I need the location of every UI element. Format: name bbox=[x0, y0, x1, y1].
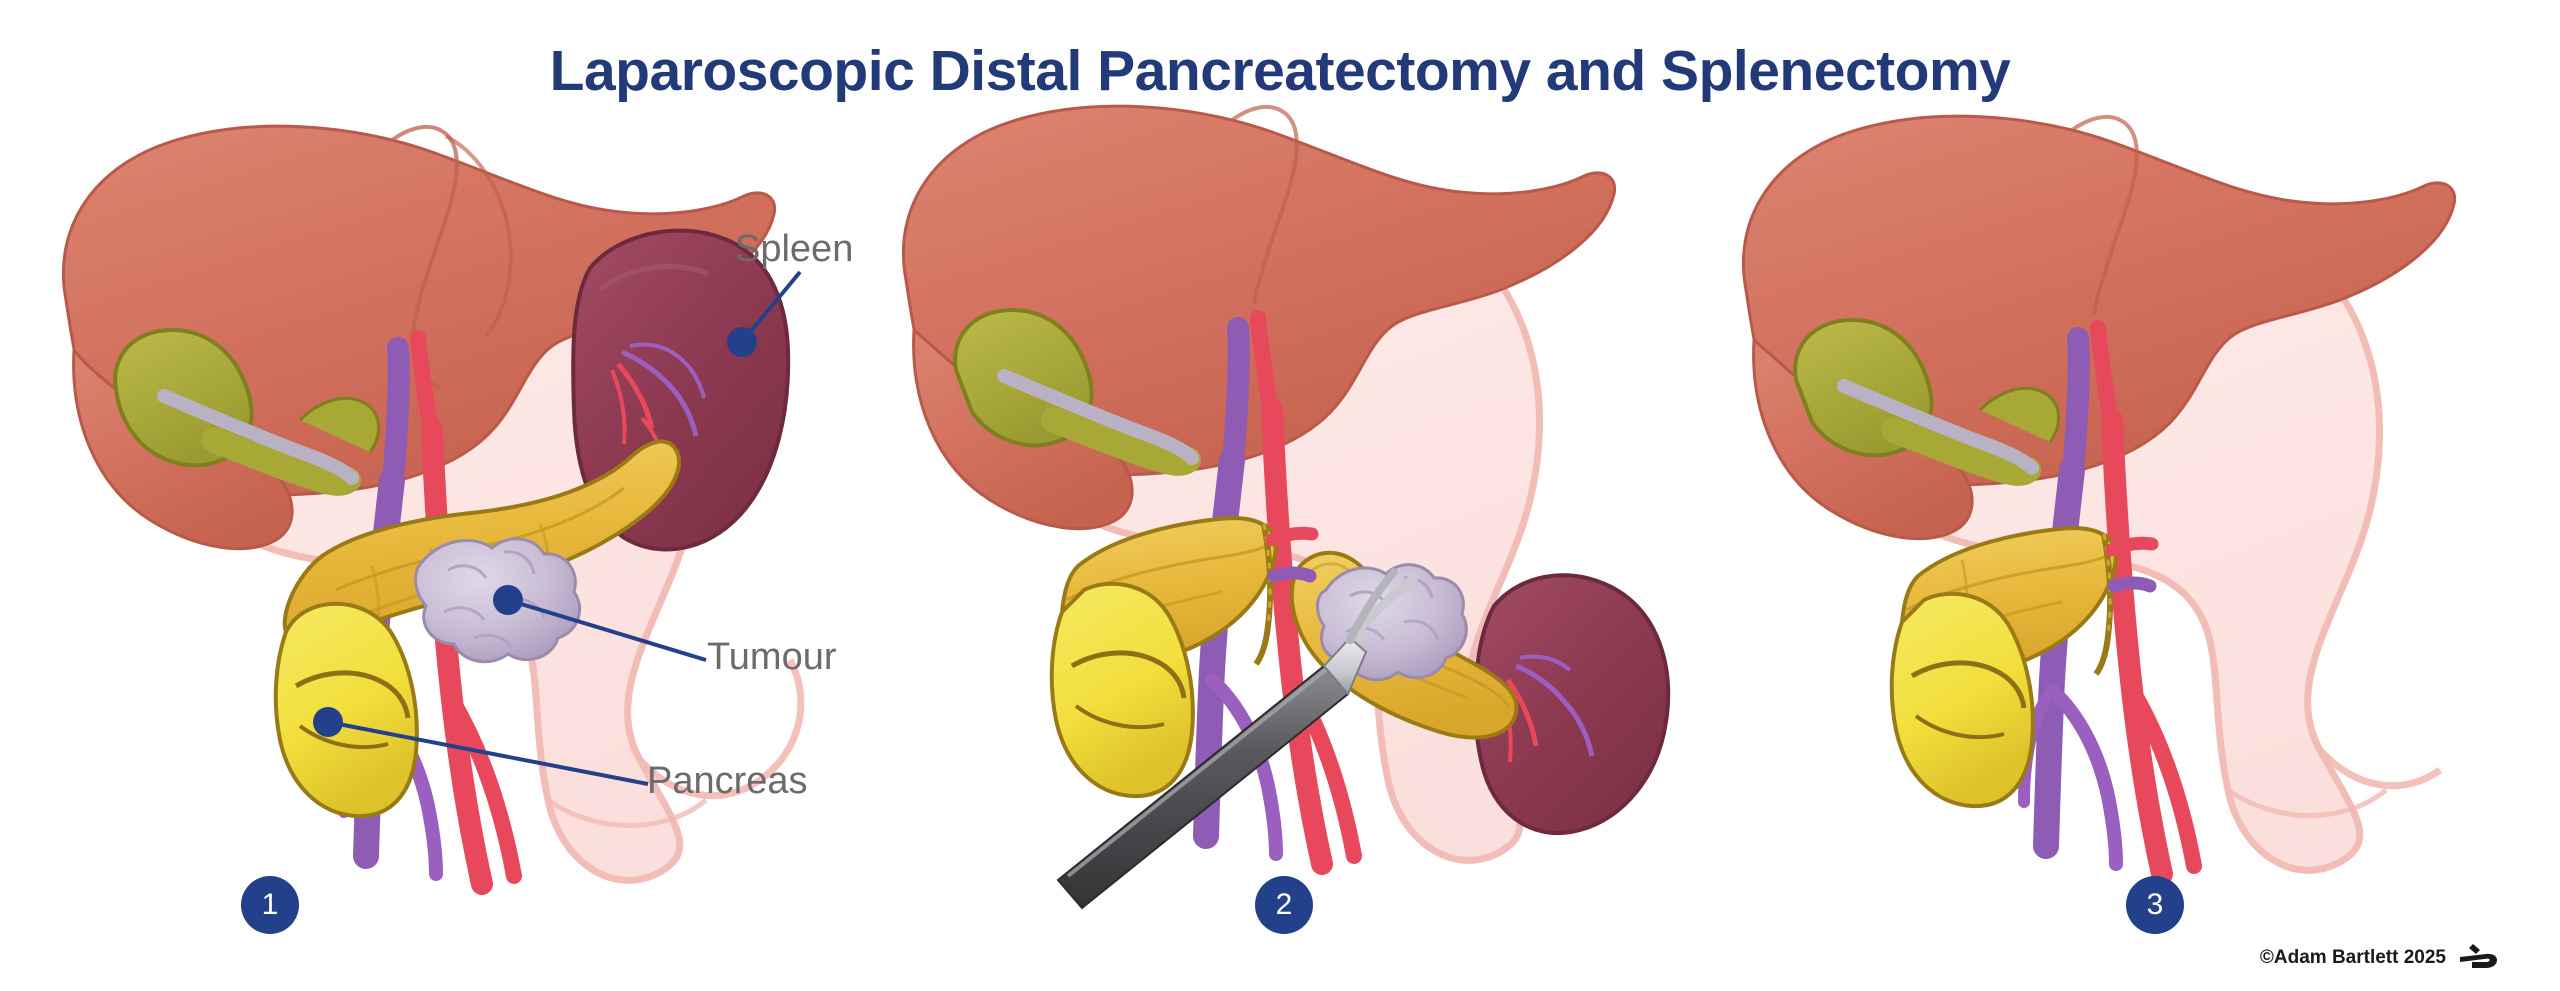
leader-dot-tumour bbox=[493, 585, 523, 615]
panel-1: Spleen Tumour Pancreas bbox=[0, 0, 930, 991]
panel-badge-3: 3 bbox=[2126, 876, 2184, 934]
panel-3-illustration bbox=[1700, 0, 2560, 991]
panel-3 bbox=[1700, 0, 2560, 991]
panel-badge-1: 1 bbox=[241, 876, 299, 934]
figure-canvas: Laparoscopic Distal Pancreatectomy and S… bbox=[0, 0, 2560, 991]
leader-dot-pancreas bbox=[313, 707, 343, 737]
copyright-text: ©Adam Bartlett 2025 bbox=[2260, 947, 2446, 969]
scalpel-logo-icon bbox=[2456, 943, 2498, 973]
panel-2-illustration bbox=[880, 0, 1720, 991]
leader-dot-spleen bbox=[727, 327, 757, 357]
label-spleen: Spleen bbox=[735, 228, 853, 271]
panel-1-illustration bbox=[0, 0, 930, 991]
pancreas-head bbox=[276, 604, 417, 816]
copyright: ©Adam Bartlett 2025 bbox=[2260, 943, 2498, 973]
panel-2 bbox=[880, 0, 1720, 991]
label-tumour: Tumour bbox=[707, 636, 837, 679]
panel-badge-2: 2 bbox=[1255, 876, 1313, 934]
label-pancreas: Pancreas bbox=[647, 760, 808, 803]
